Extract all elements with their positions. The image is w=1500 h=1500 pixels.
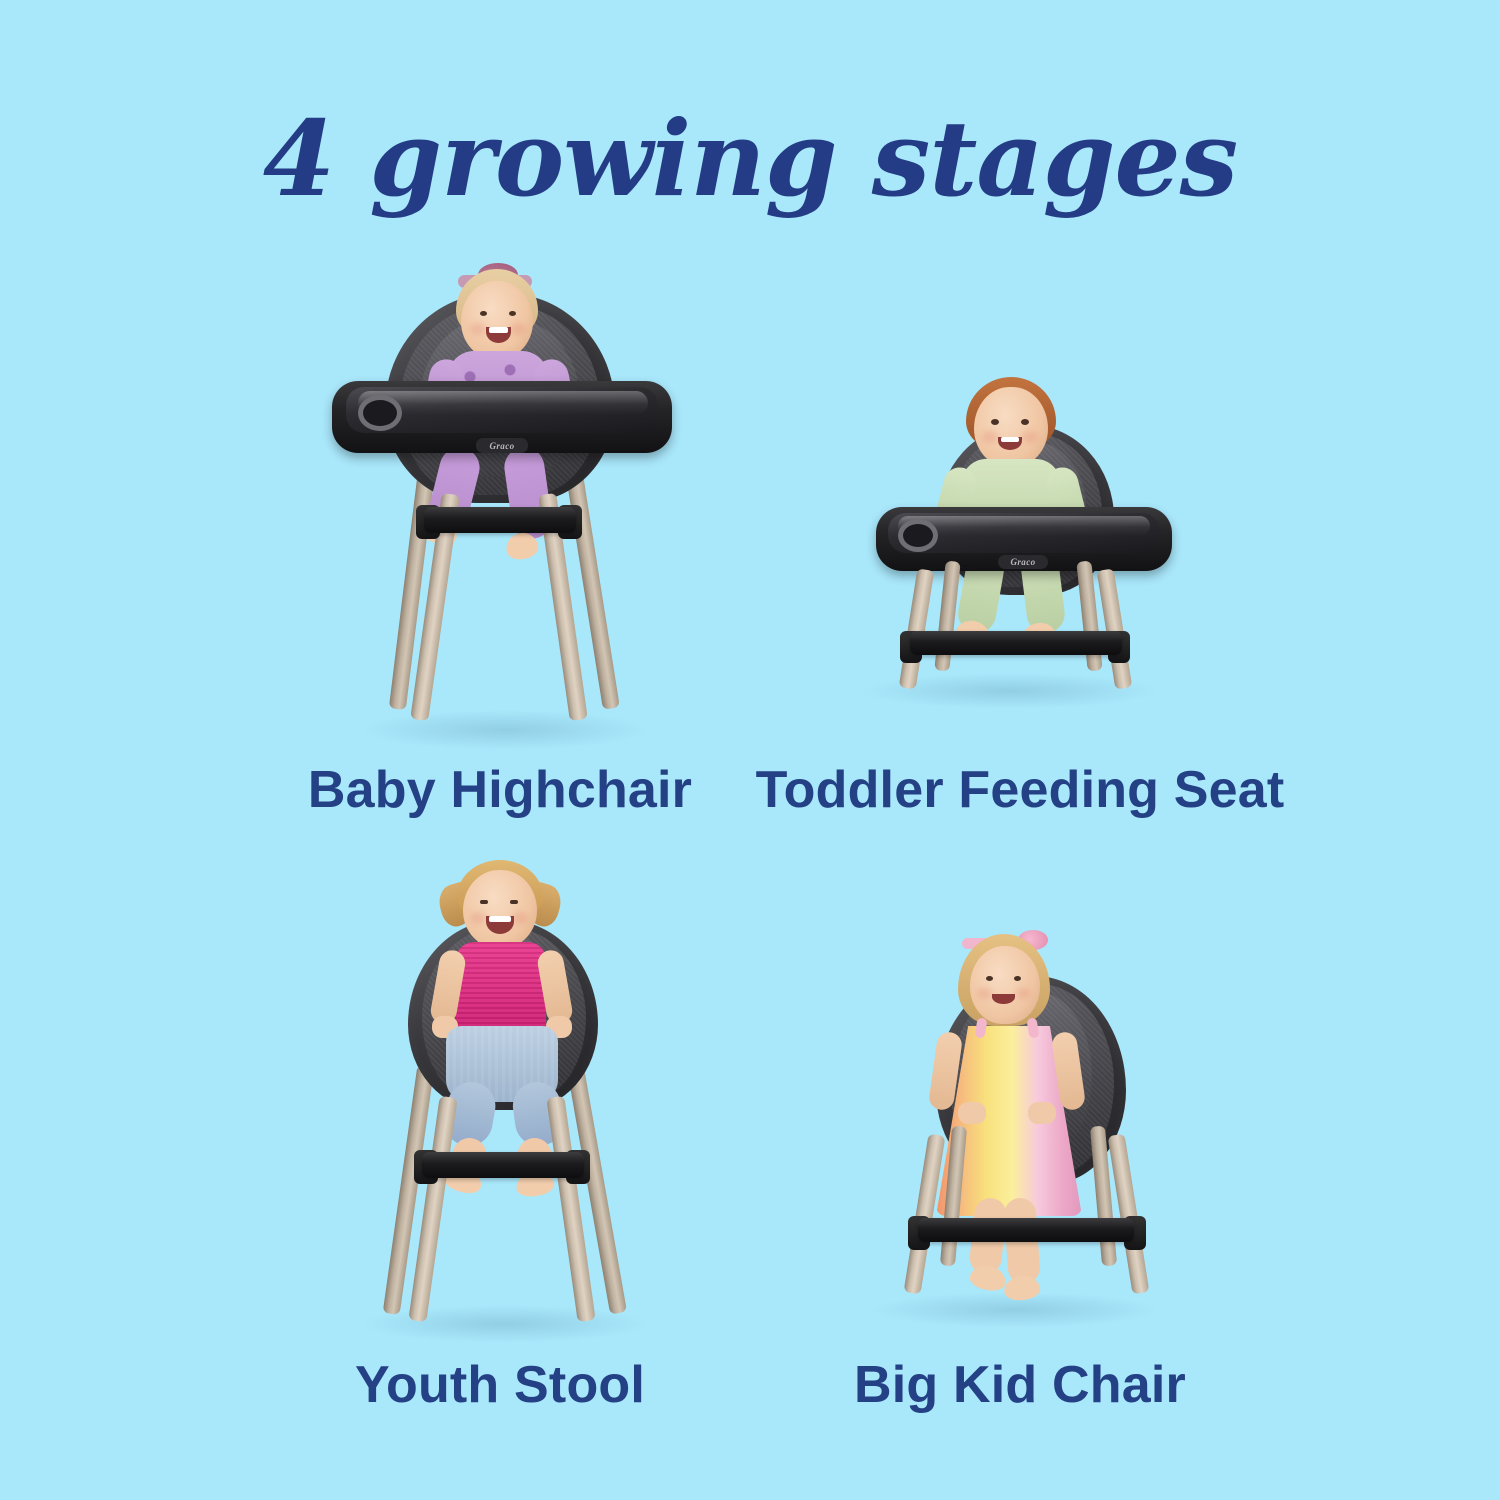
cup-holder — [358, 395, 402, 431]
stage-label-youth-stool: Youth Stool — [355, 1355, 645, 1415]
stage-label-baby-highchair: Baby Highchair — [308, 760, 692, 820]
cheek-left — [470, 912, 486, 924]
eye-right — [1021, 419, 1029, 425]
stool-footrest — [422, 1152, 584, 1178]
eye-right — [510, 900, 518, 904]
stage-label-big-kid-chair: Big Kid Chair — [854, 1355, 1186, 1415]
page-title: 4 growing stages — [0, 104, 1500, 213]
cheek-left — [982, 431, 998, 443]
eye-right — [1014, 976, 1021, 981]
infographic-canvas: 4 growing stages — [0, 0, 1500, 1500]
hand-right — [1028, 1102, 1056, 1124]
eye-left — [480, 900, 488, 904]
stage-card-baby-highchair[interactable]: Graco Baby Highchair — [300, 255, 700, 815]
stage-card-toddler-feeding-seat[interactable]: Graco Toddler Feeding Seat — [790, 355, 1250, 815]
cheek-left — [470, 323, 486, 335]
ground-shadow — [360, 1305, 650, 1343]
stage-card-big-kid-chair[interactable]: Big Kid Chair — [790, 920, 1250, 1410]
cheek-right — [1022, 431, 1038, 443]
chair-leg-front-right — [1108, 1134, 1150, 1295]
hand-left — [958, 1102, 986, 1124]
youth-stool-illustration — [300, 850, 700, 1410]
cup-holder — [898, 519, 938, 552]
seat-leg-front-right — [1097, 568, 1133, 689]
head — [461, 281, 533, 359]
eye-left — [991, 419, 999, 425]
highchair-footrest — [424, 507, 576, 533]
head — [463, 870, 537, 948]
cheek-right — [1016, 988, 1031, 999]
torso-outfit — [456, 942, 546, 1034]
cheek-left — [977, 988, 992, 999]
cheek-right — [510, 323, 526, 335]
feeding-seat-footrest — [910, 631, 1122, 655]
eye-right — [509, 311, 516, 316]
toddler-feeding-seat-illustration: Graco — [790, 355, 1250, 815]
big-kid-chair-illustration — [790, 920, 1250, 1410]
seat-leg-front-left — [899, 568, 935, 689]
eye-left — [480, 311, 487, 316]
chair-footrest — [918, 1218, 1134, 1242]
eye-left — [986, 976, 993, 981]
stage-label-toddler-feeding-seat: Toddler Feeding Seat — [756, 760, 1285, 820]
head — [970, 946, 1040, 1024]
head — [974, 387, 1048, 467]
brand-badge: Graco — [476, 438, 528, 453]
cheek-right — [512, 912, 528, 924]
baby-highchair-illustration: Graco — [300, 255, 700, 815]
brand-badge: Graco — [998, 555, 1048, 569]
stage-card-youth-stool[interactable]: Youth Stool — [300, 850, 700, 1410]
ground-shadow — [360, 710, 650, 750]
